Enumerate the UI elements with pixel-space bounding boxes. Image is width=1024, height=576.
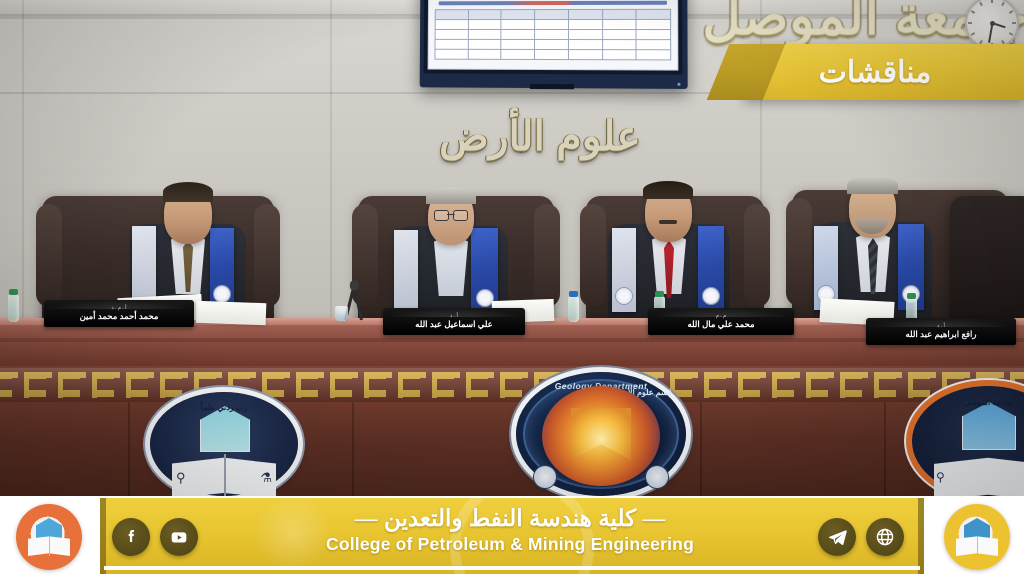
eyeglasses: [434, 210, 468, 219]
sash-emblem: [703, 288, 719, 304]
emblem-mini-seal: [646, 466, 668, 488]
photo-frame: جامعة الموصل: [0, 0, 1024, 576]
emblem-drafting-icon: ⚲: [936, 470, 945, 484]
nameplate-name: رافع ابراهيم عبد الله: [905, 329, 976, 340]
nameplate-4: أ . د رافع ابراهيم عبد الله: [866, 318, 1016, 345]
youtube-icon[interactable]: [160, 518, 198, 556]
emblem-arch: [962, 402, 1016, 450]
footer-english-title: College of Petroleum & Mining Engineerin…: [270, 533, 750, 555]
emblem-book-spine: [224, 454, 226, 496]
emblem-motto: رب زدني علماً: [150, 403, 298, 412]
dash-right: —: [642, 505, 665, 531]
academic-sash-blue: [698, 226, 724, 312]
nameplate-prefix: أ . م . د: [111, 305, 126, 311]
nameplate-prefix: م . م: [716, 313, 726, 319]
slide-table: [434, 9, 671, 61]
emblem-arch: [200, 406, 250, 452]
hair: [426, 187, 476, 204]
water-bottle: [8, 294, 19, 322]
wall-joint: [330, 0, 332, 320]
wall-joint: [22, 0, 24, 320]
emblem-drafting-icon: ⚲: [176, 470, 186, 486]
greek-key-shine: [0, 368, 1024, 402]
university-emblem-left: رب زدني علماً ⚲ ⚗: [150, 392, 298, 496]
nameplate-name: محمد علي مال الله: [687, 319, 754, 330]
geology-department-emblem: Geology Department قسم علوم الأرض: [516, 372, 686, 496]
facebook-icon[interactable]: [112, 518, 150, 556]
desk-panel-seam: [700, 402, 702, 496]
presentation-slide: [428, 0, 679, 71]
document-papers: [196, 301, 267, 325]
nameplate-1: أ . م . د محمد أحمد محمد أمين: [44, 300, 194, 327]
water-glass: [335, 306, 348, 321]
banner-label: مناقشات: [819, 55, 950, 90]
academic-sash-white: [394, 230, 418, 312]
university-of-mosul-seal: [16, 504, 82, 570]
hair: [847, 176, 898, 194]
telegram-icon[interactable]: [818, 518, 856, 556]
nameplate-name: محمد أحمد محمد أمين: [80, 311, 159, 322]
emblem-open-book: [934, 456, 1024, 500]
desk-panel-seam: [128, 402, 130, 496]
desk-panel-seam: [352, 402, 354, 496]
academic-sash-white: [612, 228, 636, 312]
footer-right-stripe: [918, 498, 924, 574]
discussions-banner: مناقشات: [744, 44, 1024, 100]
empty-chair: [950, 196, 1024, 328]
sash-emblem: [616, 288, 632, 304]
nameplate-name: علي اسماعيل عبد الله: [415, 319, 493, 330]
emblem-mini-seal: [534, 466, 556, 488]
mustache: [659, 220, 677, 224]
college-seal: [944, 504, 1010, 570]
academic-sash-blue: [210, 228, 234, 310]
nameplate-prefix: أ . د: [450, 313, 458, 319]
screen-power-led: [677, 83, 680, 86]
footer-underline: [104, 566, 920, 570]
footer-arabic-title: — كلية هندسة النفط والتعدين —: [270, 504, 750, 533]
seal-book-spine: [49, 536, 50, 556]
desk-panel-seam: [884, 402, 886, 496]
hair: [163, 182, 213, 202]
sash-emblem: [214, 286, 230, 302]
screen-stand: [530, 84, 574, 89]
hair: [643, 181, 693, 199]
footer-titles: — كلية هندسة النفط والتعدين — College of…: [270, 504, 750, 555]
slide-text-line: [439, 1, 667, 6]
nameplate-prefix: أ . د: [937, 323, 945, 329]
earth-sciences-wall-sign: علوم الأرض: [430, 112, 650, 160]
footer-arabic-text: كلية هندسة النفط والتعدين: [384, 505, 636, 531]
nameplate-2: أ . د علي اسماعيل عبد الله: [383, 308, 525, 335]
footer-left-stripe: [100, 498, 106, 574]
dash-left: —: [355, 505, 378, 531]
presentation-screen: [420, 0, 688, 89]
nameplate-3: م . م محمد علي مال الله: [648, 308, 794, 335]
emblem-microscope-icon: ⚗: [260, 470, 272, 486]
emblem-label: جامعة الموصل: [912, 398, 1024, 408]
sash-emblem: [477, 290, 493, 306]
website-globe-icon[interactable]: [866, 518, 904, 556]
seal-book-spine: [977, 536, 978, 556]
water-bottle: [568, 296, 579, 322]
